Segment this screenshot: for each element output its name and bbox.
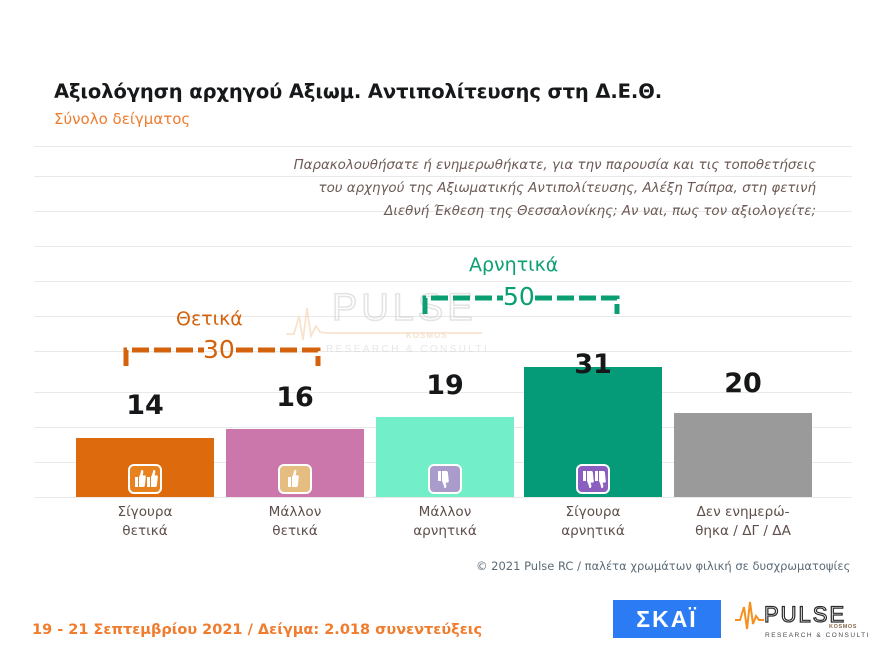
- thumbs-down-single-icon: [428, 464, 462, 494]
- survey-question: Παρακολουθήσατε ή ενημερωθήκατε, για την…: [250, 154, 816, 223]
- svg-text:KOSMOS: KOSMOS: [829, 624, 857, 630]
- bar-label-4-line2: αρνητικά: [524, 522, 662, 541]
- bar-value-4: 31: [524, 349, 662, 380]
- bar-label-2: Μάλλον θετικά: [226, 503, 364, 541]
- gridline: [34, 246, 852, 247]
- bar-label-2-line1: Μάλλον: [226, 503, 364, 522]
- bar-label-1-line1: Σίγουρα: [76, 503, 214, 522]
- skai-logo-text: ΣΚΑΪ: [636, 606, 697, 633]
- skai-logo: ΣΚΑΪ: [613, 600, 721, 638]
- bar-label-3: Μάλλον αρνητικά: [376, 503, 514, 541]
- copyright-note: © 2021 Pulse RC / παλέτα χρωμάτων φιλική…: [476, 559, 850, 573]
- bar-label-4-line1: Σίγουρα: [524, 503, 662, 522]
- bar-value-2: 16: [226, 382, 364, 413]
- gridline: [34, 497, 852, 498]
- bracket-label-positive: Θετικά: [176, 308, 243, 330]
- footer-dates: 19 - 21 Σεπτεμβρίου 2021 / Δείγμα: 2.018…: [32, 622, 482, 638]
- bracket-label-negative: Αρνητικά: [469, 254, 558, 276]
- svg-text:KOSMOS: KOSMOS: [406, 331, 448, 340]
- pulse-logo-icon: PULSE KOSMOS RESEARCH & CONSULTING: [733, 598, 868, 640]
- bar-value-5: 20: [674, 368, 812, 399]
- question-line-3: Διεθνή Έκθεση της Θεσσαλονίκης; Αν ναι, …: [250, 200, 816, 223]
- bar-label-1-line2: θετικά: [76, 522, 214, 541]
- gridline: [34, 146, 852, 147]
- pulse-logo: PULSE KOSMOS RESEARCH & CONSULTING: [733, 598, 868, 640]
- question-line-2: του αρχηγού της Αξιωματικής Αντιπολίτευσ…: [250, 177, 816, 200]
- svg-text:RESEARCH & CONSULTING: RESEARCH & CONSULTING: [326, 344, 486, 355]
- bar-label-5: Δεν ενημερώ- θηκα / ΔΓ / ΔΑ: [664, 503, 822, 541]
- bar-label-1: Σίγουρα θετικά: [76, 503, 214, 541]
- thumbs-up-double-icon: [128, 464, 162, 494]
- page-title: Αξιολόγηση αρχηγού Αξιωμ. Αντιπολίτευσης…: [54, 80, 662, 103]
- bar-den-enimerothika[interactable]: [674, 413, 812, 497]
- bracket-positive-icon: [120, 340, 330, 370]
- bar-label-4: Σίγουρα αρνητικά: [524, 503, 662, 541]
- bar-value-3: 19: [376, 370, 514, 401]
- question-line-1: Παρακολουθήσατε ή ενημερωθήκατε, για την…: [250, 154, 816, 177]
- bar-label-5-line1: Δεν ενημερώ-: [664, 503, 822, 522]
- svg-text:RESEARCH & CONSULTING: RESEARCH & CONSULTING: [765, 632, 868, 639]
- gridline: [34, 281, 852, 282]
- thumbs-down-double-icon: [576, 464, 610, 494]
- bar-label-3-line2: αρνητικά: [376, 522, 514, 541]
- bar-value-1: 14: [76, 390, 214, 421]
- bracket-negative-icon: [419, 288, 629, 318]
- bar-label-3-line1: Μάλλον: [376, 503, 514, 522]
- bar-label-2-line2: θετικά: [226, 522, 364, 541]
- page-subtitle: Σύνολο δείγματος: [54, 110, 190, 128]
- thumbs-up-single-icon: [278, 464, 312, 494]
- poll-chart-page: Αξιολόγηση αρχηγού Αξιωμ. Αντιπολίτευσης…: [0, 0, 880, 660]
- bar-label-5-line2: θηκα / ΔΓ / ΔΑ: [664, 522, 822, 541]
